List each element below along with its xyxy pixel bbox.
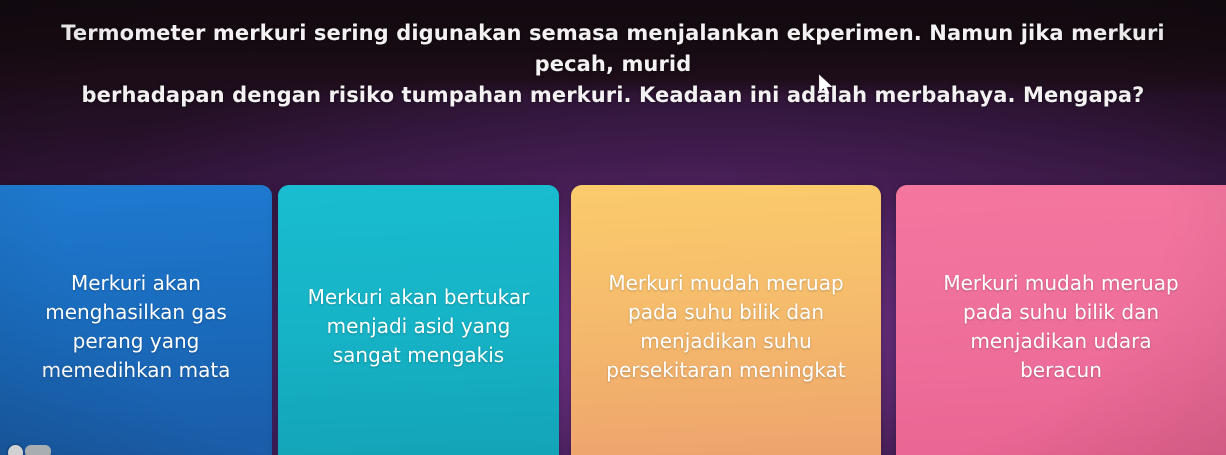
question-line-1: Termometer merkuri sering digunakan sema… [26, 18, 1200, 80]
answer-option-3-label: Merkuri mudah meruap pada suhu bilik dan… [579, 269, 873, 385]
answer-option-3[interactable]: Merkuri mudah meruap pada suhu bilik dan… [571, 185, 881, 455]
answer-option-4[interactable]: Merkuri mudah meruap pada suhu bilik dan… [896, 185, 1226, 455]
question-line-2: berhadapan dengan risiko tumpahan merkur… [26, 80, 1200, 111]
question-text: Termometer merkuri sering digunakan sema… [0, 18, 1226, 111]
answer-option-1-label: Merkuri akan menghasilkan gas perang yan… [8, 269, 264, 385]
answer-option-1[interactable]: Merkuri akan menghasilkan gas perang yan… [0, 185, 272, 455]
answer-option-2-label: Merkuri akan bertukar menjadi asid yang … [286, 283, 551, 370]
answer-options: Merkuri akan menghasilkan gas perang yan… [0, 185, 1226, 455]
quiz-screen: Termometer merkuri sering digunakan sema… [0, 0, 1226, 455]
answer-option-2[interactable]: Merkuri akan bertukar menjadi asid yang … [278, 185, 559, 455]
answer-option-4-label: Merkuri mudah meruap pada suhu bilik dan… [904, 269, 1218, 385]
